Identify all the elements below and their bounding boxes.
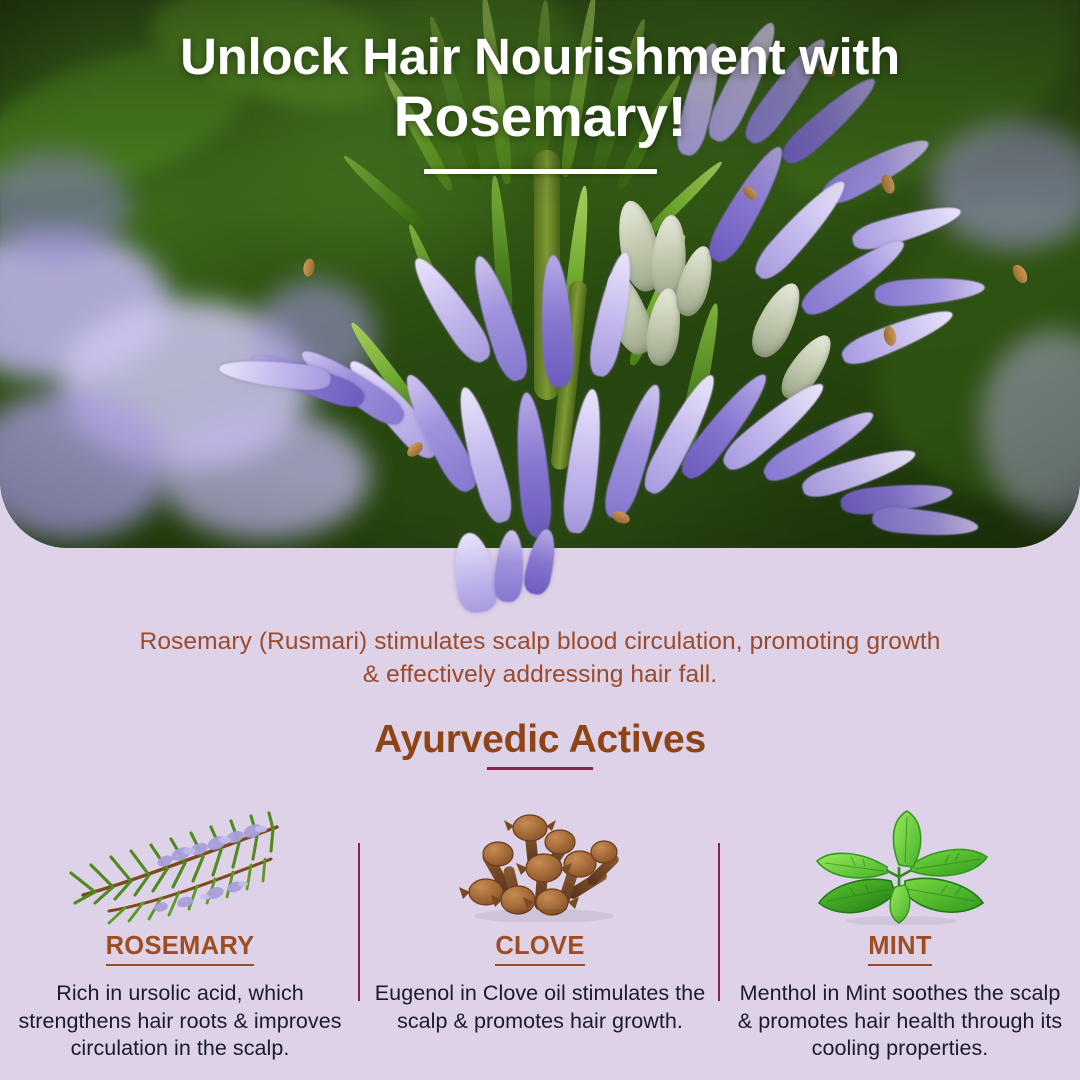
section-heading-block: Ayurvedic Actives [0, 718, 1080, 770]
ayurvedic-actives-columns: ROSEMARY Rich in ursolic acid, which str… [0, 800, 1080, 1080]
ingredient-column-clove: CLOVE Eugenol in Clove oil stimulates th… [360, 800, 720, 1080]
ingredient-name-clove: CLOVE [495, 932, 584, 966]
rosemary-petal [449, 530, 501, 615]
ingredient-name-rosemary: ROSEMARY [106, 932, 255, 966]
rosemary-petal [521, 527, 560, 597]
hero-title-line-2: Rosemary! [0, 86, 1080, 150]
hero-title-underline [424, 169, 657, 174]
ingredient-description-rosemary: Rich in ursolic acid, which strengthens … [0, 980, 360, 1063]
overhanging-flower-petal [455, 538, 575, 616]
section-heading-text: Ayurvedic Actives [0, 718, 1080, 762]
ingredient-description-mint: Menthol in Mint soothes the scalp & prom… [720, 980, 1080, 1063]
intro-paragraph: Rosemary (Rusmari) stimulates scalp bloo… [0, 626, 1080, 691]
hero-title-block: Unlock Hair Nourishment with Rosemary! [0, 30, 1080, 174]
ingredient-name-mint: MINT [868, 932, 932, 966]
ingredient-column-mint: MINT Menthol in Mint soothes the scalp &… [720, 800, 1080, 1080]
section-heading-underline [487, 767, 593, 770]
hero-title-line-1: Unlock Hair Nourishment with [0, 30, 1080, 84]
intro-line-2: & effectively addressing hair fall. [0, 659, 1080, 692]
clove-buds-icon [360, 800, 720, 932]
ingredient-column-rosemary: ROSEMARY Rich in ursolic acid, which str… [0, 800, 360, 1080]
ingredient-description-clove: Eugenol in Clove oil stimulates the scal… [360, 980, 720, 1035]
rosemary-sprig-icon [0, 800, 360, 932]
mint-leaves-icon [720, 800, 1080, 932]
intro-line-1: Rosemary (Rusmari) stimulates scalp bloo… [0, 626, 1080, 659]
rosemary-petal [493, 529, 526, 603]
